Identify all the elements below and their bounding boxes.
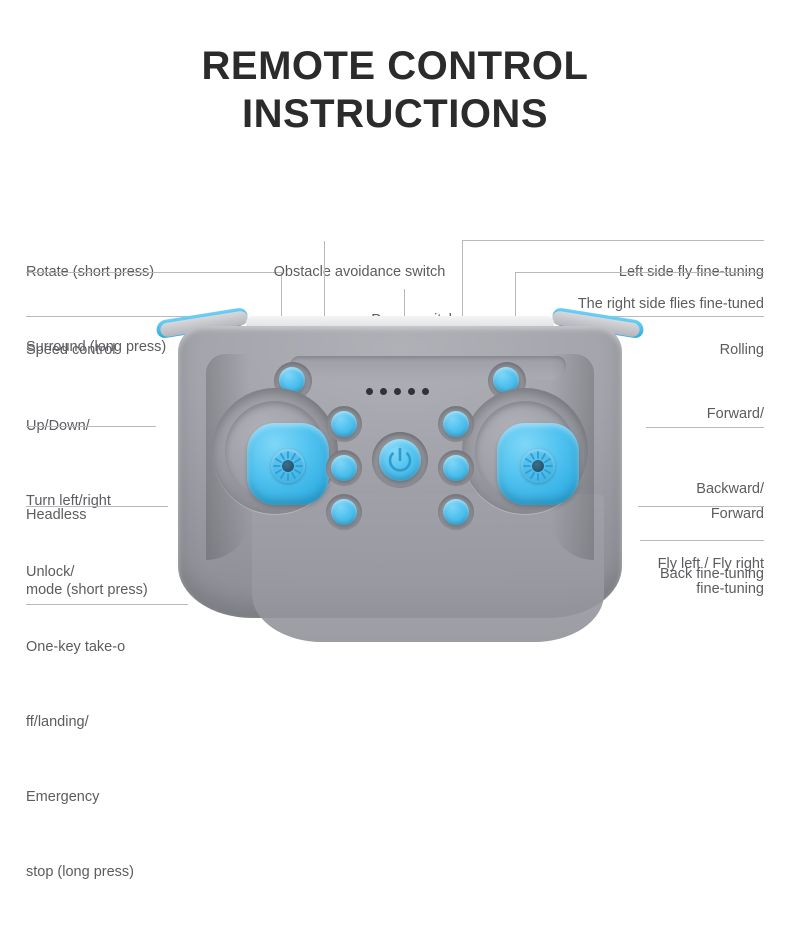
remote-controller-illustration (150, 300, 650, 630)
leader-line-right-side-flies-fine-tuned (515, 272, 764, 273)
power-icon (379, 439, 421, 481)
right-joystick-well (462, 388, 588, 514)
right-joystick-well-inner (475, 401, 575, 501)
right-column-button-2-cap (443, 455, 469, 481)
leader-line-rotate-surround (26, 272, 282, 273)
label-unlock-takeoff-line-2: One-key take-o (26, 635, 134, 660)
label-speed-control-line-1: Speed control (26, 338, 115, 363)
leader-line-updown-turn (26, 426, 156, 427)
power-button-well (372, 432, 428, 488)
left-column-button-1[interactable] (326, 406, 362, 442)
page-title: REMOTE CONTROL INSTRUCTIONS (0, 42, 790, 138)
left-column-button-1-cap (331, 411, 357, 437)
right-column-button-2[interactable] (438, 450, 474, 486)
led-dot (422, 388, 429, 395)
controller-body (178, 326, 622, 618)
left-column-button-2-cap (331, 455, 357, 481)
controller-lower-face (252, 494, 604, 642)
left-column-button-2[interactable] (326, 450, 362, 486)
led-indicator-row (366, 388, 434, 396)
led-dot (394, 388, 401, 395)
right-column-button-1[interactable] (438, 406, 474, 442)
right-joystick-nub (521, 449, 555, 483)
title-line-1: REMOTE CONTROL (202, 44, 589, 88)
label-unlock-takeoff: Unlock/ One-key take-o ff/landing/ Emerg… (26, 510, 134, 935)
infographic-canvas: REMOTE CONTROL INSTRUCTIONS Rotate (shor… (0, 0, 790, 757)
left-joystick[interactable] (247, 423, 329, 505)
label-unlock-takeoff-line-3: ff/landing/ (26, 710, 134, 735)
label-unlock-takeoff-line-1: Unlock/ (26, 560, 134, 585)
label-unlock-takeoff-line-5: stop (long press) (26, 860, 134, 885)
left-joystick-nub (271, 449, 305, 483)
label-unlock-takeoff-line-4: Emergency (26, 785, 134, 810)
leader-line-forward-fine-tuning (638, 506, 764, 507)
left-joystick-well (212, 388, 338, 514)
leader-line-left-side-fly-fine-tuning (462, 240, 764, 241)
left-joystick-center (282, 460, 294, 472)
right-column-button-3-cap (443, 499, 469, 525)
led-dot (366, 388, 373, 395)
power-button[interactable] (379, 439, 421, 481)
leader-line-back-fine-tuning (640, 540, 764, 541)
right-column-button-3[interactable] (438, 494, 474, 530)
right-joystick[interactable] (497, 423, 579, 505)
left-column-button-3-cap (331, 499, 357, 525)
right-column-button-1-cap (443, 411, 469, 437)
leader-line-headless-mode (26, 506, 168, 507)
led-dot (408, 388, 415, 395)
left-joystick-well-inner (225, 401, 325, 501)
left-column-button-3[interactable] (326, 494, 362, 530)
title-line-2: INSTRUCTIONS (0, 90, 790, 138)
leader-line-forward-backward (646, 427, 764, 428)
led-dot (380, 388, 387, 395)
right-joystick-center (532, 460, 544, 472)
